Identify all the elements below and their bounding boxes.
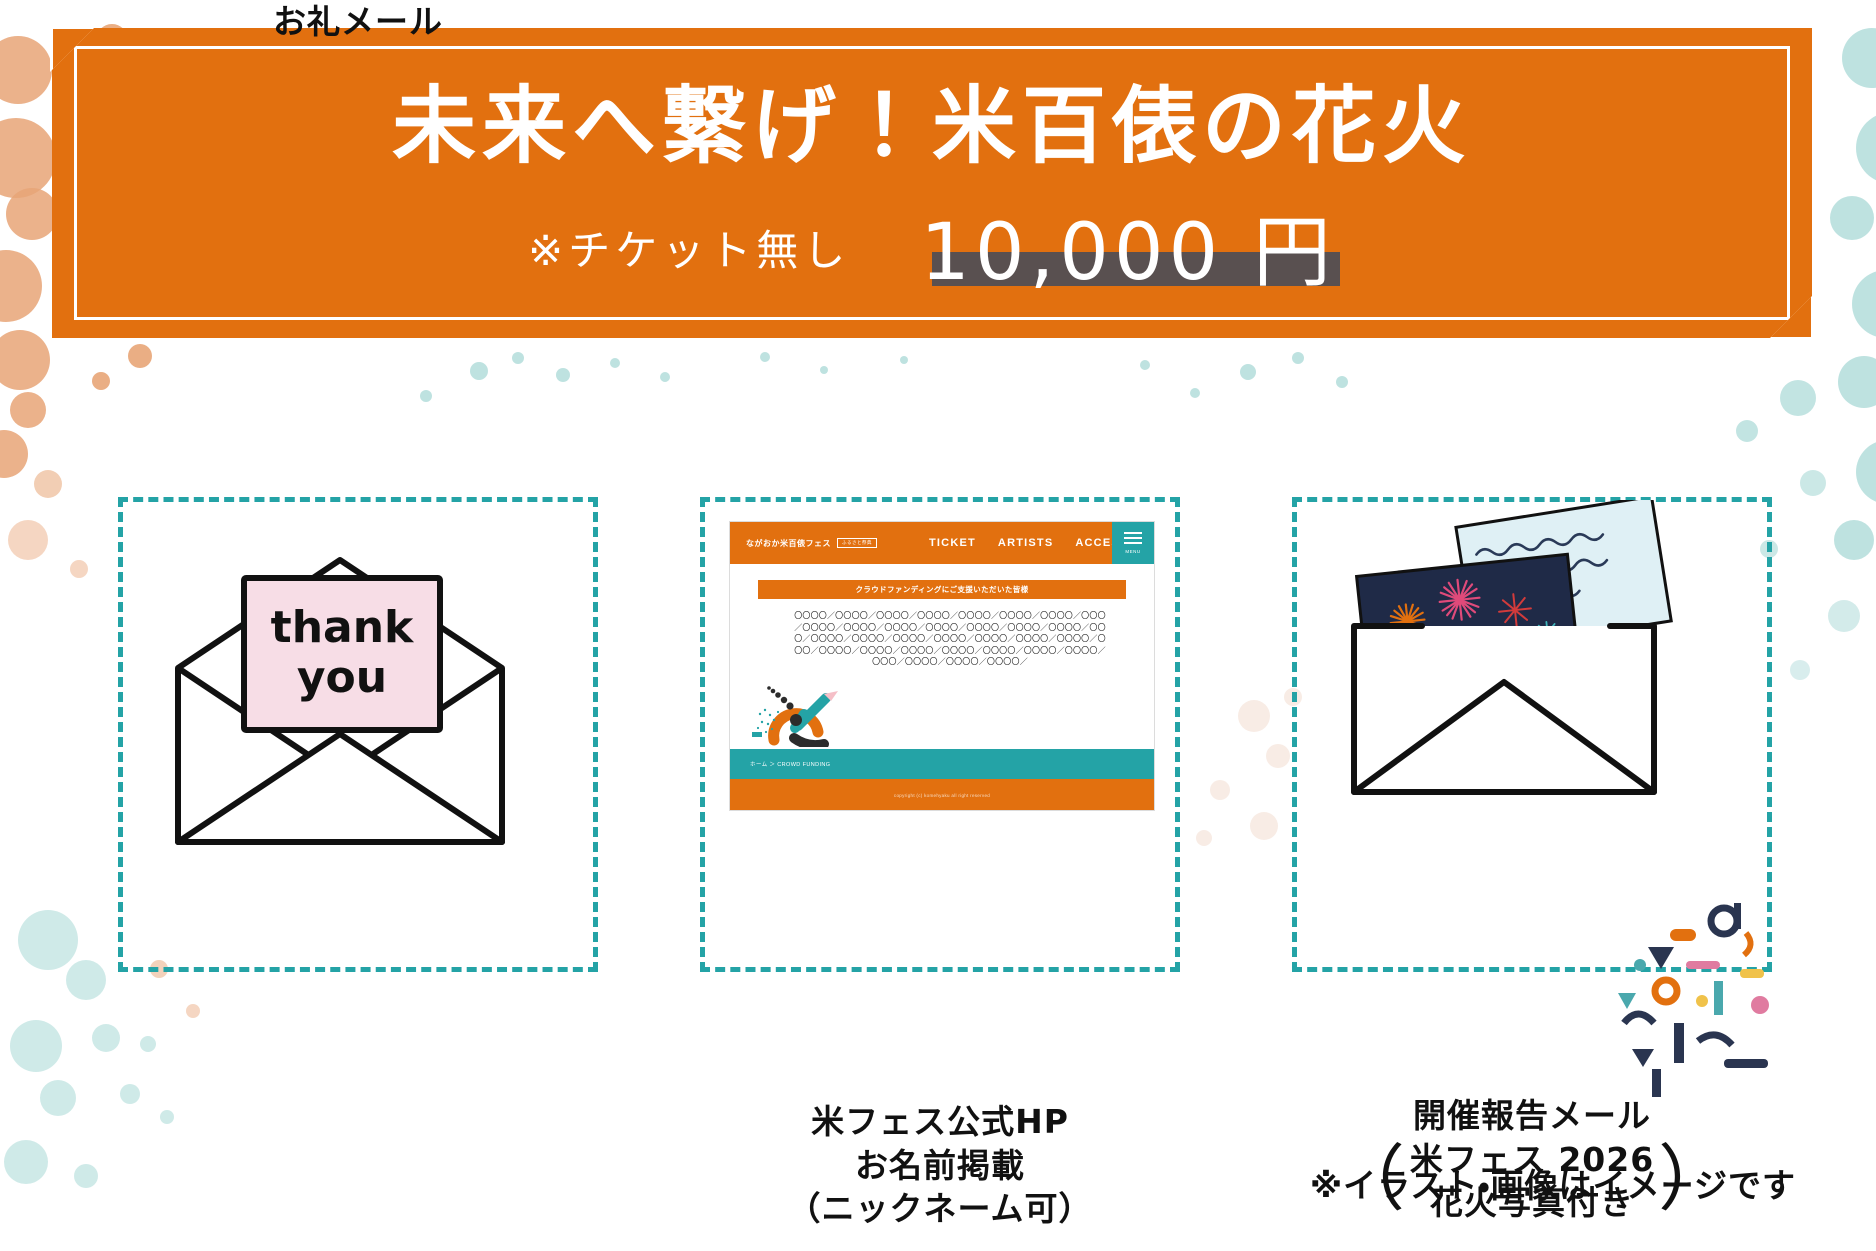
person-illustration-icon — [748, 662, 868, 747]
corner-notch-top-left-fill — [53, 29, 93, 69]
site-nav-artists[interactable]: ARTISTS — [998, 537, 1053, 549]
decorative-dot — [10, 1020, 62, 1072]
decorative-dot — [6, 188, 58, 240]
decorative-dot — [4, 1140, 48, 1184]
decorative-dot — [1336, 376, 1348, 388]
caption-line: お名前掲載 — [700, 1144, 1180, 1188]
decorative-dot — [18, 910, 78, 970]
supporter-name-list: 〇〇〇〇／〇〇〇〇／〇〇〇〇／〇〇〇〇／〇〇〇〇／〇〇〇〇／〇〇〇〇／〇〇〇 ／… — [774, 610, 1126, 668]
poster-canvas: 未来へ繋げ！米百俵の花火 ※チケット無し 10,000 円 thank you … — [0, 0, 1876, 1251]
decorative-dot — [34, 470, 62, 498]
burger-bar — [1124, 537, 1142, 539]
decorative-dot — [120, 1084, 140, 1104]
decorative-dot — [74, 1164, 98, 1188]
open-envelope-icon: thank you — [160, 540, 520, 870]
decorative-dot — [40, 1080, 76, 1116]
supporter-line: 〇〇〇〇／〇〇〇〇／〇〇〇〇／〇〇〇〇／〇〇〇〇／〇〇〇〇／〇〇〇〇／〇〇〇 — [774, 610, 1126, 622]
decorative-dot — [0, 330, 50, 390]
decorative-dot — [0, 118, 56, 198]
decorative-dot — [92, 1024, 120, 1052]
envelope-with-photos-icon — [1318, 500, 1738, 810]
header-banner: 未来へ繋げ！米百俵の花火 ※チケット無し 10,000 円 — [52, 28, 1812, 338]
decorative-dot — [1736, 420, 1758, 442]
decorative-dot — [1240, 364, 1256, 380]
decorative-dot — [128, 344, 152, 368]
decorative-dot — [66, 960, 106, 1000]
decorative-dot — [760, 352, 770, 362]
caption-text: お礼メール — [273, 2, 443, 41]
festival-logo-icon — [1574, 873, 1804, 1103]
decorative-dot — [0, 250, 42, 322]
site-body: クラウドファンディングにご支援いただいた皆様 〇〇〇〇／〇〇〇〇／〇〇〇〇／〇〇… — [730, 564, 1154, 749]
site-logo-badge: ふるさと祭典 — [837, 538, 877, 548]
burger-label: MENU — [1125, 549, 1140, 554]
decorative-dot — [1856, 112, 1876, 184]
decorative-dot — [160, 1110, 174, 1124]
price-wrap: 10,000 円 — [920, 214, 1336, 292]
site-menu: TICKET ARTISTS ACCESS — [929, 537, 1128, 549]
decorative-dot — [1790, 660, 1810, 680]
card-caption-thank-you: お礼メール — [118, 0, 598, 44]
banner-title: 未来へ繋げ！米百俵の花火 — [52, 84, 1812, 168]
decorative-dot — [1780, 380, 1816, 416]
decorative-dot — [900, 356, 908, 364]
decorative-dot — [1852, 270, 1876, 338]
decorative-dot — [140, 1036, 156, 1052]
decorative-dot — [1140, 360, 1150, 370]
decorative-dot — [0, 430, 28, 478]
decorative-dot — [470, 362, 488, 380]
decorative-dot — [186, 1004, 200, 1018]
decorative-dot — [1856, 440, 1876, 504]
decorative-dot — [1842, 28, 1876, 88]
banner-subrow: ※チケット無し 10,000 円 — [52, 214, 1812, 292]
supporter-line: 〇〇／〇〇〇〇／〇〇〇〇／〇〇〇〇／〇〇〇〇／〇〇〇〇／〇〇〇〇／〇〇〇〇／ — [774, 645, 1126, 657]
site-breadcrumb[interactable]: ホーム ＞ CROWD FUNDING — [750, 760, 830, 768]
decorative-dot — [92, 372, 110, 390]
caption-line: 米フェス公式HP — [700, 1100, 1180, 1144]
site-nav-ticket[interactable]: TICKET — [929, 537, 976, 549]
decorative-dot — [660, 372, 670, 382]
decorative-dot — [70, 560, 88, 578]
decorative-dot — [1250, 812, 1278, 840]
price-amount: 10,000 円 — [920, 214, 1336, 292]
decorative-dot — [8, 520, 48, 560]
decorative-dot — [1196, 830, 1212, 846]
caption-line: （ニックネーム可） — [700, 1187, 1180, 1231]
decorative-dot — [1828, 600, 1860, 632]
supporter-line: ／〇〇〇〇／〇〇〇〇／〇〇〇〇／〇〇〇〇／〇〇〇〇／〇〇〇〇／〇〇〇〇／〇〇 — [774, 622, 1126, 634]
corner-notch-bottom-right-fill — [1771, 297, 1811, 337]
decorative-dot — [610, 358, 620, 368]
decorative-dot — [1800, 470, 1826, 496]
decorative-dot — [556, 368, 570, 382]
decorative-dot — [1210, 780, 1230, 800]
decorative-dot — [1266, 744, 1290, 768]
decorative-dot — [420, 390, 432, 402]
decorative-dot — [1190, 388, 1200, 398]
site-navbar: ながおか米百俵フェス ふるさと祭典 TICKET ARTISTS ACCESS … — [730, 522, 1154, 564]
burger-bar — [1124, 532, 1142, 534]
decorative-dot — [1834, 520, 1874, 560]
site-logo-text: ながおか米百俵フェス — [746, 538, 831, 549]
decorative-dot — [10, 392, 46, 428]
decorative-dot — [1238, 700, 1270, 732]
site-copyright: copyright (c) komehyaku all right reserv… — [730, 779, 1154, 811]
site-ribbon-heading: クラウドファンディングにご支援いただいた皆様 — [758, 580, 1126, 599]
supporter-line: 〇／〇〇〇〇／〇〇〇〇／〇〇〇〇／〇〇〇〇／〇〇〇〇／〇〇〇〇／〇〇〇〇／〇 — [774, 633, 1126, 645]
decorative-dot — [512, 352, 524, 364]
ticket-note: ※チケット無し — [528, 217, 850, 292]
svg-text:you: you — [297, 652, 387, 703]
decorative-dot — [820, 366, 828, 374]
site-logo[interactable]: ながおか米百俵フェス ふるさと祭典 — [746, 538, 877, 549]
decorative-dot — [1830, 196, 1874, 240]
decorative-dot — [1838, 356, 1876, 408]
thank-word: thank — [271, 602, 415, 653]
website-screenshot: ながおか米百俵フェス ふるさと祭典 TICKET ARTISTS ACCESS … — [729, 521, 1155, 811]
card-caption-official-hp: 米フェス公式HP お名前掲載 （ニックネーム可） — [700, 1100, 1180, 1231]
footer-note: ※イラスト・画像はイメージです — [1310, 1159, 1796, 1207]
site-breadcrumb-bar: ホーム ＞ CROWD FUNDING — [730, 749, 1154, 779]
decorative-dot — [1292, 352, 1304, 364]
burger-bar — [1124, 542, 1142, 544]
hamburger-menu-icon[interactable]: MENU — [1112, 522, 1154, 564]
decorative-dot — [0, 36, 52, 104]
